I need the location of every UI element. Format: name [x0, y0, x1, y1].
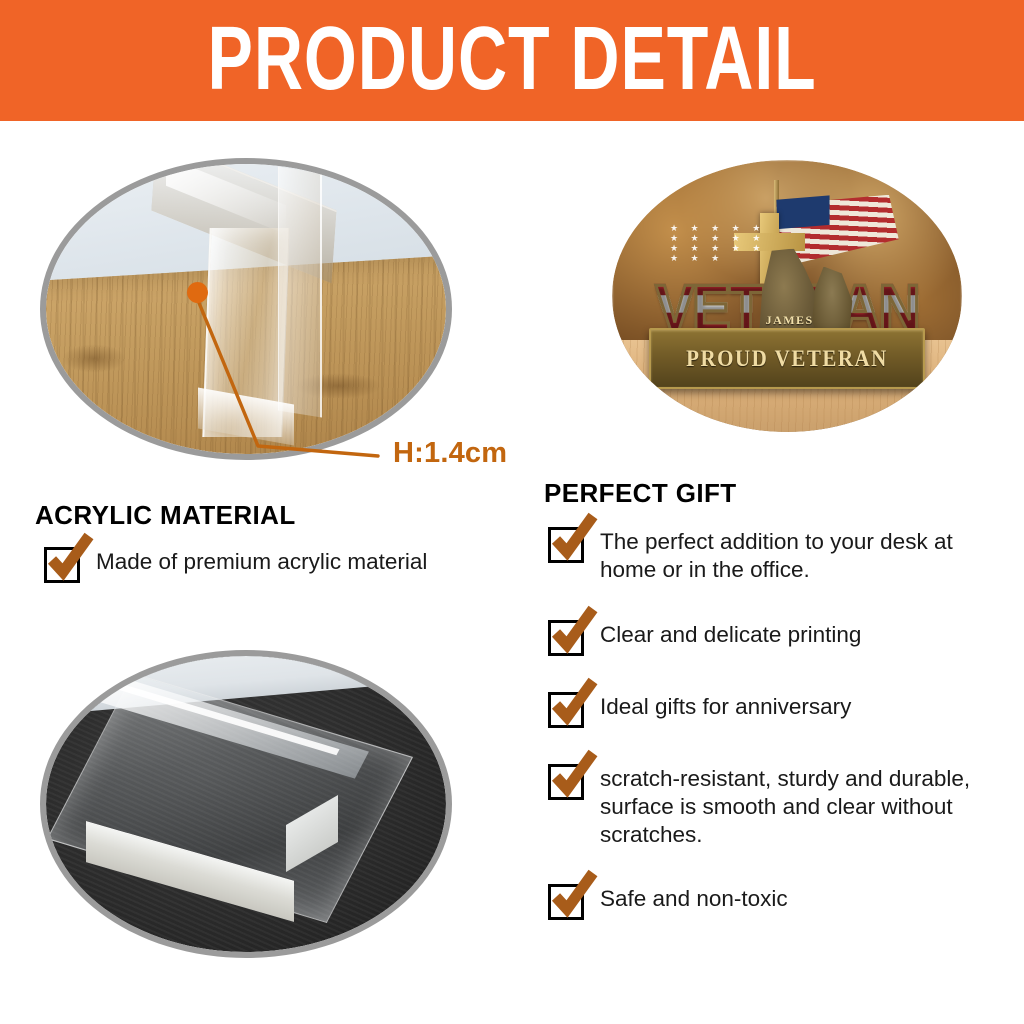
header-banner: PRODUCT DETAIL [0, 0, 1024, 121]
wood-grain-knot [62, 344, 126, 373]
check-icon [548, 513, 600, 565]
check-icon [548, 870, 600, 922]
feature-list-acrylic: Made of premium acrylic material [44, 545, 514, 617]
photo-acrylic-block-content [46, 656, 446, 952]
check-icon [548, 750, 600, 802]
list-item-label: scratch-resistant, sturdy and durable, s… [600, 762, 1008, 849]
list-item-label: Safe and non-toxic [600, 882, 788, 913]
list-item-label: The perfect addition to your desk at hom… [600, 525, 1008, 584]
list-item-label: Ideal gifts for anniversary [600, 690, 851, 721]
product-detail-page: PRODUCT DETAIL H:1.4cm [0, 0, 1024, 1024]
list-item: scratch-resistant, sturdy and durable, s… [548, 762, 1008, 849]
checkbox-icon [548, 620, 584, 656]
photo-acrylic-edge-on-wood [40, 158, 452, 460]
thickness-marker-dot [187, 282, 208, 303]
checkbox-icon [548, 764, 584, 800]
checkbox-icon [548, 692, 584, 728]
section-heading-perfect-gift: PERFECT GIFT [544, 478, 737, 509]
list-item: Made of premium acrylic material [44, 545, 514, 583]
plaque-base-text: PROUD VETERAN [686, 344, 888, 372]
photo-acrylic-edge-content [46, 164, 446, 454]
list-item: Ideal gifts for anniversary [548, 690, 1008, 728]
list-item: Safe and non-toxic [548, 882, 1008, 920]
list-item-label: Made of premium acrylic material [96, 545, 427, 576]
list-item: The perfect addition to your desk at hom… [548, 525, 1008, 584]
plaque-base: PROUD VETERAN [649, 328, 926, 389]
checkbox-icon [548, 884, 584, 920]
personalized-name: JAMES [755, 313, 824, 333]
checkbox-icon [548, 527, 584, 563]
section-heading-acrylic-material: ACRYLIC MATERIAL [35, 500, 296, 531]
list-item-label: Clear and delicate printing [600, 618, 861, 649]
photo-veteran-content: VETERAN ★ ★ ★ ★ ★ ★ ★ ★ ★ ★ ★ ★ ★ ★ ★ ★ … [612, 160, 962, 432]
page-title: PRODUCT DETAIL [207, 13, 816, 108]
feature-list-perfect-gift: The perfect addition to your desk at hom… [548, 525, 1008, 954]
checkbox-icon [44, 547, 80, 583]
photo-veteran-plaque: VETERAN ★ ★ ★ ★ ★ ★ ★ ★ ★ ★ ★ ★ ★ ★ ★ ★ … [612, 160, 962, 432]
plaque-assembly: VETERAN ★ ★ ★ ★ ★ ★ ★ ★ ★ ★ ★ ★ ★ ★ ★ ★ … [654, 220, 920, 400]
dimension-label-height: H:1.4cm [393, 437, 507, 470]
check-icon [548, 606, 600, 658]
photo-acrylic-block-on-slate [40, 650, 452, 958]
check-icon [44, 533, 96, 585]
list-item: Clear and delicate printing [548, 618, 1008, 656]
check-icon [548, 678, 600, 730]
